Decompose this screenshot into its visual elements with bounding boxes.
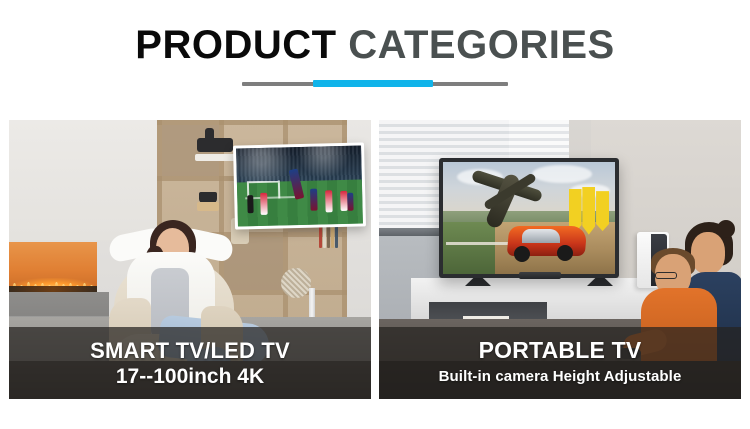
title-word-categories: CATEGORIES (348, 23, 615, 67)
portable-tv-caption-line1: PORTABLE TV (479, 337, 642, 364)
smart-tv-caption-line1: SMART TV/LED TV (90, 337, 290, 364)
shelf-decor-sculpture (197, 138, 233, 152)
portable-tv-caption: PORTABLE TV Built-in camera Height Adjus… (379, 327, 741, 399)
title-divider (242, 80, 508, 86)
category-card-smart-tv[interactable]: SMART TV/LED TV 17--100inch 4K (9, 120, 371, 399)
category-card-portable-tv[interactable]: PORTABLE TV Built-in camera Height Adjus… (379, 120, 741, 399)
page-title: PRODUCT CATEGORIES (0, 22, 750, 68)
smart-tv-caption-line2: 17--100inch 4K (116, 364, 264, 390)
smart-tv-caption: SMART TV/LED TV 17--100inch 4K (9, 327, 371, 399)
portable-tv-device (439, 158, 619, 278)
divider-accent-bar (313, 80, 433, 87)
category-card-list: SMART TV/LED TV 17--100inch 4K (9, 120, 741, 399)
glasses-icon (655, 272, 677, 279)
title-word-product: PRODUCT (135, 23, 336, 67)
header: PRODUCT CATEGORIES (0, 0, 750, 86)
soundbar (519, 272, 561, 279)
tv-screen-racing-game (443, 162, 615, 274)
product-categories-banner: PRODUCT CATEGORIES (0, 0, 750, 429)
smart-tv-device (233, 142, 366, 229)
portable-tv-caption-line2: Built-in camera Height Adjustable (439, 364, 682, 390)
woman-head (691, 232, 725, 274)
tv-screen-soccer (236, 145, 363, 226)
shelf-decor-basket (281, 268, 311, 298)
